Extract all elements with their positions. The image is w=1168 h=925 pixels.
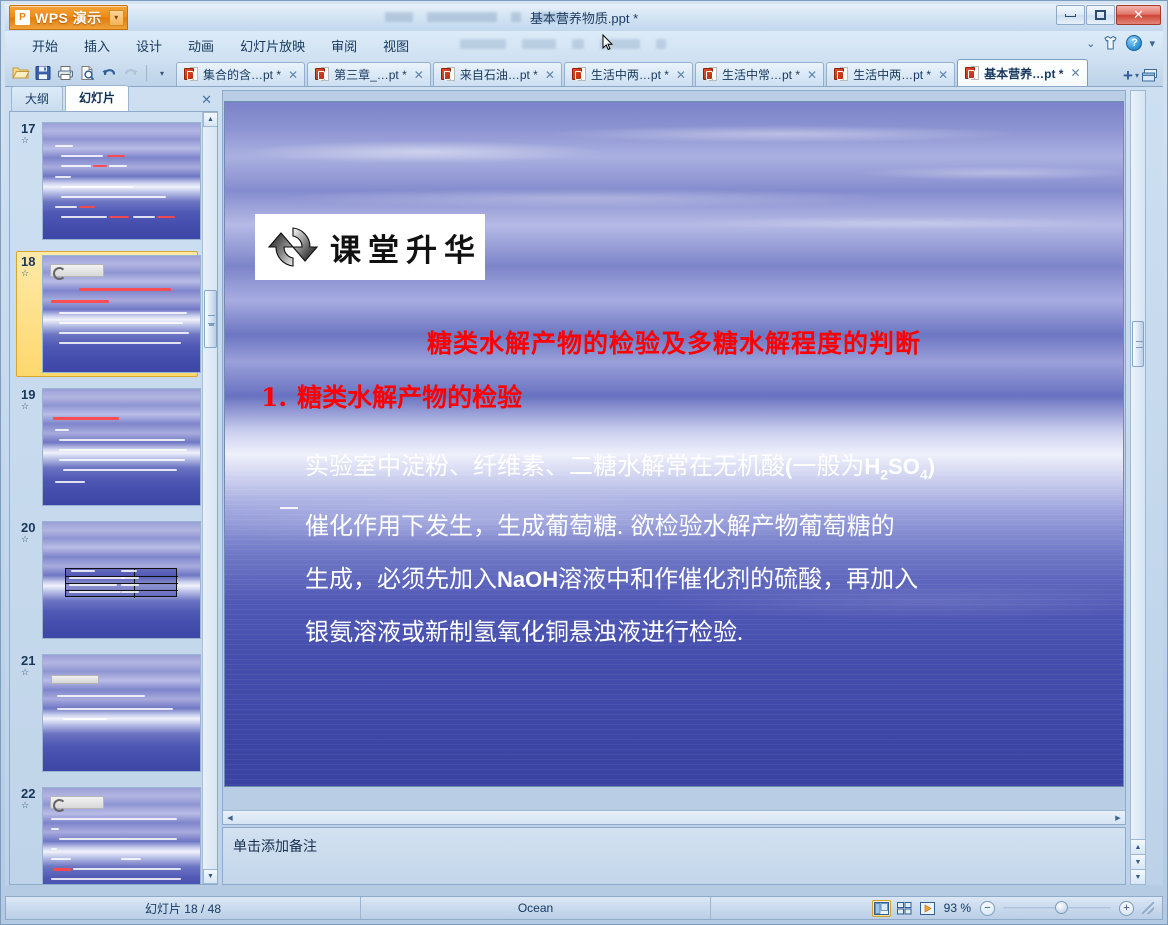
window-list-icon[interactable] xyxy=(1141,68,1158,83)
slide-horizontal-scrollbar[interactable]: ◀ ▶ xyxy=(223,810,1125,824)
doc-tab-close-icon[interactable]: ✕ xyxy=(414,68,424,82)
doc-tab-close-icon[interactable]: ✕ xyxy=(676,68,686,82)
minimize-button[interactable] xyxy=(1056,5,1085,25)
new-document-button[interactable]: + xyxy=(1123,67,1133,84)
minimize-icon xyxy=(1065,14,1076,17)
thumbnail-item[interactable]: 20 ☆ xyxy=(16,517,198,643)
thumbnail-scrollbar[interactable]: ▲ ▼ xyxy=(202,112,217,884)
ppt-file-icon xyxy=(703,67,717,82)
help-caret-icon[interactable]: ▾ xyxy=(1149,37,1155,50)
document-tabs: 集合的含…pt * ✕ 第三章_…pt * ✕ 来自石油…pt * ✕ 生活中两… xyxy=(176,58,1120,86)
heading-number: 1. xyxy=(261,383,287,412)
slide-navigator-pane: 大纲 幻灯片 ✕ 17 ☆ xyxy=(5,89,220,885)
doc-tab-close-icon[interactable]: ✕ xyxy=(1070,66,1080,80)
app-menu-caret-icon[interactable]: ▾ xyxy=(109,10,124,26)
thumbnail-preview xyxy=(42,521,201,639)
workspace: 大纲 幻灯片 ✕ 17 ☆ xyxy=(5,87,1163,885)
status-bar: 幻灯片 18 / 48 Ocean 93 % − + xyxy=(5,896,1163,920)
ribbon-menu-bar: 开始 插入 设计 动画 幻灯片放映 审阅 视图 ⌄ ? ▾ xyxy=(5,31,1163,59)
animation-badge-icon: ☆ xyxy=(21,535,42,544)
slide-body-text[interactable]: 实验室中淀粉、纤维素、二糖水解常在无机酸(一般为H2SO4) 催化作用下发生，生… xyxy=(305,440,1095,659)
slide-counter: 幻灯片 18 / 48 xyxy=(6,897,361,919)
zoom-level-label: 93 % xyxy=(944,901,971,915)
notes-pane[interactable]: 单击添加备注 xyxy=(222,827,1126,885)
ppt-file-icon xyxy=(184,67,198,82)
print-preview-icon[interactable] xyxy=(77,63,97,83)
thumbnail-preview xyxy=(42,388,201,506)
thumbnail-number: 22 ☆ xyxy=(20,787,42,810)
document-tab-strip: ▾ 集合的含…pt * ✕ 第三章_…pt * ✕ 来自石油…pt * ✕ 生活… xyxy=(5,59,1163,87)
scroll-down-arrow-icon[interactable]: ▼ xyxy=(1131,869,1145,884)
window-buttons: ✕ xyxy=(1056,5,1161,25)
logo-label: 课堂升华 xyxy=(330,225,482,270)
recycle-arrows-icon xyxy=(265,221,321,273)
body-line-2: 催化作用下发生，生成葡萄糖. 欲检验水解产物葡萄糖的 xyxy=(305,500,1095,553)
doc-tab-4[interactable]: 生活中两…pt * ✕ xyxy=(564,62,693,86)
menu-tab-insert[interactable]: 插入 xyxy=(71,32,123,59)
chevron-down-icon[interactable]: ⌄ xyxy=(1086,37,1095,50)
open-icon[interactable] xyxy=(11,63,31,83)
ppt-file-icon xyxy=(572,67,586,82)
doc-tab-close-icon[interactable]: ✕ xyxy=(288,68,298,82)
print-icon[interactable] xyxy=(55,63,75,83)
thumbnail-item[interactable]: 22 ☆ xyxy=(16,783,198,884)
view-and-zoom-controls: 93 % − + xyxy=(872,900,1162,917)
doc-tab-close-icon[interactable]: ✕ xyxy=(807,68,817,82)
doc-tab-label: 生活中两…pt * xyxy=(591,66,669,83)
slide-canvas-wrapper[interactable]: 课堂升华 糖类水解产物的检验及多糖水解程度的判断 1.糖类水解产物的检验 实验室… xyxy=(223,91,1125,810)
normal-view-button[interactable] xyxy=(872,900,891,917)
save-icon[interactable] xyxy=(33,63,53,83)
thumbnail-number: 18 ☆ xyxy=(20,255,42,278)
menu-tab-design[interactable]: 设计 xyxy=(123,32,175,59)
doc-tab-label: 生活中常…pt * xyxy=(722,66,800,83)
background-window-titles xyxy=(385,12,569,22)
tab-slides[interactable]: 幻灯片 xyxy=(65,85,129,111)
doc-tab-2[interactable]: 第三章_…pt * ✕ xyxy=(307,62,431,86)
slide-title[interactable]: 糖类水解产物的检验及多糖水解程度的判断 xyxy=(225,324,1123,360)
menu-tab-view[interactable]: 视图 xyxy=(370,32,422,59)
heading-text: 糖类水解产物的检验 xyxy=(297,383,522,412)
thumbnail-item[interactable]: 17 ☆ xyxy=(16,118,198,244)
previous-slide-button[interactable]: ▲ xyxy=(1131,839,1145,854)
animation-badge-icon: ☆ xyxy=(21,402,42,411)
ppt-file-icon xyxy=(441,67,455,82)
wps-app-badge[interactable]: P WPS 演示 ▾ xyxy=(9,5,128,30)
zoom-out-button[interactable]: − xyxy=(980,901,995,916)
next-slide-button[interactable]: ▼ xyxy=(1131,854,1145,869)
scroll-up-icon[interactable]: ▲ xyxy=(203,112,218,127)
doc-tab-6[interactable]: 生活中两…pt * ✕ xyxy=(826,62,955,86)
thumbnail-number: 20 ☆ xyxy=(20,521,42,544)
slide-heading[interactable]: 1.糖类水解产物的检验 xyxy=(261,378,522,414)
theme-name[interactable]: Ocean xyxy=(361,897,711,919)
editor-pane: 课堂升华 糖类水解产物的检验及多糖水解程度的判断 1.糖类水解产物的检验 实验室… xyxy=(220,89,1128,885)
animation-badge-icon: ☆ xyxy=(21,136,42,145)
zoom-slider[interactable] xyxy=(1003,907,1111,910)
slideshow-view-button[interactable] xyxy=(918,900,937,917)
thumbnail-item[interactable]: 19 ☆ xyxy=(16,384,198,510)
new-document-caret-icon[interactable]: ▾ xyxy=(1135,71,1139,80)
close-pane-icon[interactable]: ✕ xyxy=(201,92,212,108)
doc-tab-3[interactable]: 来自石油…pt * ✕ xyxy=(433,62,562,86)
body-line-4: 银氨溶液或新制氢氧化铜悬浊液进行检验. xyxy=(305,606,1095,659)
thumbnail-list-container: 17 ☆ xyxy=(9,111,218,885)
wps-logo-icon: P xyxy=(15,10,30,25)
zoom-in-button[interactable]: + xyxy=(1119,901,1134,916)
close-button[interactable]: ✕ xyxy=(1116,5,1161,25)
body-line-1: 实验室中淀粉、纤维素、二糖水解常在无机酸(一般为H2SO4) xyxy=(305,440,1095,500)
vertical-scrollbar-thumb[interactable] xyxy=(1132,321,1144,367)
slide-sorter-view-button[interactable] xyxy=(895,900,914,917)
menu-tab-review[interactable]: 审阅 xyxy=(318,32,370,59)
thumbnail-scroll-area[interactable]: 17 ☆ xyxy=(10,112,202,884)
ppt-file-icon xyxy=(834,67,848,82)
ppt-file-icon xyxy=(965,66,979,81)
scroll-left-icon[interactable]: ◀ xyxy=(223,811,237,824)
doc-tab-label: 生活中两…pt * xyxy=(853,66,931,83)
animation-badge-icon: ☆ xyxy=(21,801,42,810)
doc-tab-7-active[interactable]: 基本营养…pt * ✕ xyxy=(957,59,1087,86)
quick-access-toolbar: ▾ xyxy=(5,60,176,86)
document-title: 基本营养物质.ppt * xyxy=(5,8,1163,27)
menu-tab-animation[interactable]: 动画 xyxy=(175,32,227,59)
ghost-menu-items xyxy=(460,39,666,49)
skin-icon[interactable] xyxy=(1102,35,1119,51)
doc-tab-close-icon[interactable]: ✕ xyxy=(938,68,948,82)
thumbnail-preview xyxy=(42,787,201,884)
menu-tab-slideshow[interactable]: 幻灯片放映 xyxy=(227,32,318,59)
animation-badge-icon: ☆ xyxy=(21,668,42,677)
thumbnail-number: 21 ☆ xyxy=(20,654,42,677)
menu-tab-start[interactable]: 开始 xyxy=(19,32,71,59)
undo-icon[interactable] xyxy=(99,63,119,83)
wps-presentation-window: P WPS 演示 ▾ 基本营养物质.ppt * ✕ 开始 插入 设计 动画 幻灯… xyxy=(0,0,1168,925)
zoom-slider-knob[interactable] xyxy=(1055,901,1068,914)
maximize-button[interactable] xyxy=(1086,5,1115,25)
slide-vertical-scrollbar[interactable]: ▲ ▼ ▼ xyxy=(1130,90,1146,885)
thumbnail-number: 17 ☆ xyxy=(20,122,42,145)
thumbnail-number: 19 ☆ xyxy=(20,388,42,411)
tab-strip-tools: + ▾ xyxy=(1120,67,1163,86)
doc-tab-label: 集合的含…pt * xyxy=(203,66,281,83)
toolbar-divider xyxy=(146,65,147,81)
status-spacer xyxy=(711,897,872,919)
animation-badge-icon: ☆ xyxy=(21,269,42,278)
doc-tab-label: 来自石油…pt * xyxy=(460,66,538,83)
right-scroll-rail: ▲ ▼ ▼ xyxy=(1128,89,1163,885)
thumbnail-preview xyxy=(42,654,201,772)
thumbnail-item-selected[interactable]: 18 ☆ xyxy=(16,251,198,377)
scroll-right-icon[interactable]: ▶ xyxy=(1111,811,1125,824)
thumbnail-preview xyxy=(42,255,201,373)
navigator-tabs: 大纲 幻灯片 ✕ xyxy=(5,89,220,111)
doc-tab-1[interactable]: 集合的含…pt * ✕ xyxy=(176,62,305,86)
thumbnail-preview xyxy=(42,122,201,240)
doc-tab-5[interactable]: 生活中常…pt * ✕ xyxy=(695,62,824,86)
resize-grip-icon[interactable] xyxy=(1142,902,1154,914)
body-line-3: 生成，必须先加入NaOH溶液中和作催化剂的硫酸，再加入 xyxy=(305,553,1095,606)
bullet-dash-mark xyxy=(280,507,298,509)
doc-tab-label: 第三章_…pt * xyxy=(334,66,407,83)
redo-icon[interactable] xyxy=(121,63,141,83)
scroll-down-icon[interactable]: ▼ xyxy=(203,869,218,884)
classroom-sublimation-logo[interactable]: 课堂升华 xyxy=(255,214,485,280)
slide-stage: 课堂升华 糖类水解产物的检验及多糖水解程度的判断 1.糖类水解产物的检验 实验室… xyxy=(222,90,1126,825)
app-brand-label: WPS 演示 xyxy=(35,8,102,28)
maximize-icon xyxy=(1095,10,1106,20)
slide-canvas[interactable]: 课堂升华 糖类水解产物的检验及多糖水解程度的判断 1.糖类水解产物的检验 实验室… xyxy=(225,102,1123,786)
ribbon-right-controls: ⌄ ? ▾ xyxy=(1086,35,1155,51)
scrollbar-thumb[interactable] xyxy=(204,290,217,348)
customize-toolbar-caret-icon[interactable]: ▾ xyxy=(152,63,172,83)
thumbnail-item[interactable]: 21 ☆ xyxy=(16,650,198,776)
tab-outline[interactable]: 大纲 xyxy=(11,86,63,111)
doc-tab-close-icon[interactable]: ✕ xyxy=(545,68,555,82)
title-bar: P WPS 演示 ▾ 基本营养物质.ppt * ✕ xyxy=(5,4,1163,31)
ppt-file-icon xyxy=(315,67,329,82)
help-icon[interactable]: ? xyxy=(1126,35,1142,51)
doc-tab-label: 基本营养…pt * xyxy=(984,65,1063,82)
